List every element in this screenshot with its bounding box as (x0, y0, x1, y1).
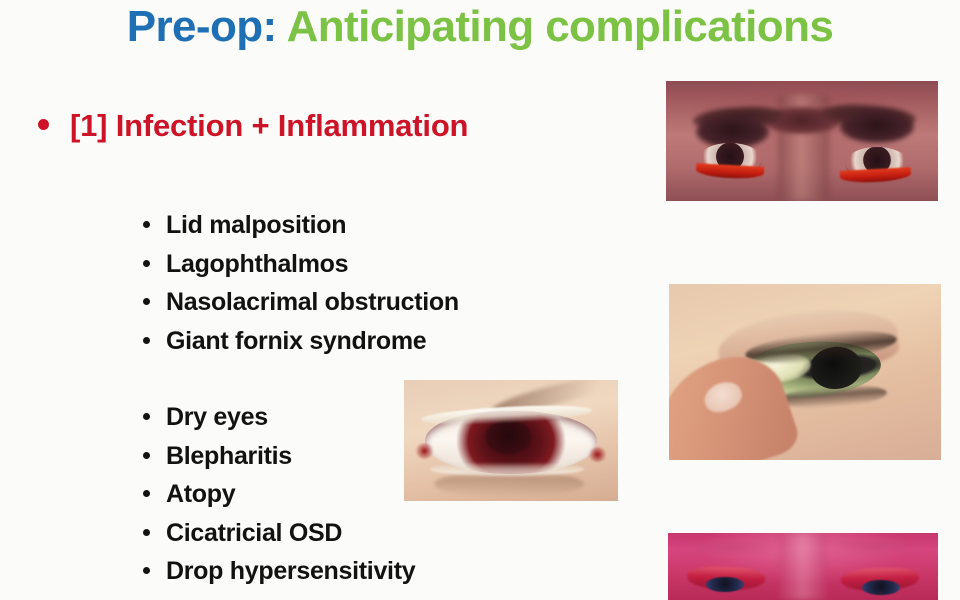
bullet-dot-icon (143, 413, 150, 420)
iris-left (706, 577, 744, 592)
nose-bridge-shading (779, 533, 828, 600)
slide-title: Pre-op:Anticipating complications (0, 2, 960, 51)
bullet-dot-icon (143, 452, 150, 459)
list-item-label: Lagophthalmos (166, 250, 348, 279)
canthus-left (415, 443, 434, 459)
eyebrow-left (679, 540, 776, 556)
bullet-dot-icon (143, 298, 150, 305)
iris-right (862, 580, 900, 595)
list-item-label: Lid malposition (166, 211, 346, 240)
clinical-photo-eye-mucus (669, 284, 941, 460)
bullet-dot-icon (143, 529, 150, 536)
slide-canvas: Pre-op:Anticipating complications [1] In… (0, 0, 960, 600)
lower-lashes (434, 471, 584, 498)
bullet-dot-icon (143, 221, 150, 228)
bullet-dot-icon (143, 567, 150, 574)
list-item: Blepharitis (143, 442, 415, 481)
photo-content (668, 533, 938, 600)
slide-title-green-part: Anticipating complications (287, 2, 834, 51)
list-item-label: Nasolacrimal obstruction (166, 288, 459, 317)
photo-content (666, 81, 938, 201)
list-item: Drop hypersensitivity (143, 557, 415, 596)
photo-content (404, 380, 618, 501)
clinical-photo-eye-blepharitis (404, 380, 618, 501)
list-item-label: Drop hypersensitivity (166, 557, 415, 586)
clinical-photo-eyes-both-red (668, 533, 938, 600)
list-item: Cicatricial OSD (143, 519, 415, 558)
list-item: Dry eyes (143, 403, 415, 442)
list-item-label: Atopy (166, 480, 235, 509)
clinical-photo-eyes-both-top (666, 81, 938, 201)
level1-bullet-text: [1] Infection + Inflammation (70, 108, 468, 144)
list-item: Atopy (143, 480, 415, 519)
list-item: Lagophthalmos (143, 250, 459, 289)
bullet-group-b: Dry eyes Blepharitis Atopy Cicatricial O… (143, 403, 415, 596)
photo-content (669, 284, 941, 460)
bullet-group-a: Lid malposition Lagophthalmos Nasolacrim… (143, 211, 459, 365)
bullet-dot-icon (143, 337, 150, 344)
list-item: Giant fornix syndrome (143, 327, 459, 366)
pupil (485, 420, 532, 454)
orbit-shadow-right (840, 111, 913, 143)
list-item: Nasolacrimal obstruction (143, 288, 459, 327)
bullet-dot-icon (143, 490, 150, 497)
list-item-label: Giant fornix syndrome (166, 327, 426, 356)
bullet-dot-icon (38, 119, 49, 130)
list-item-label: Dry eyes (166, 403, 268, 432)
bullet-dot-icon (143, 260, 150, 267)
list-item-label: Blepharitis (166, 442, 292, 471)
list-item: Lid malposition (143, 211, 459, 250)
slide-title-blue-part: Pre-op: (127, 2, 277, 51)
list-item-label: Cicatricial OSD (166, 519, 342, 548)
level1-bullet-row: [1] Infection + Inflammation (38, 108, 468, 144)
